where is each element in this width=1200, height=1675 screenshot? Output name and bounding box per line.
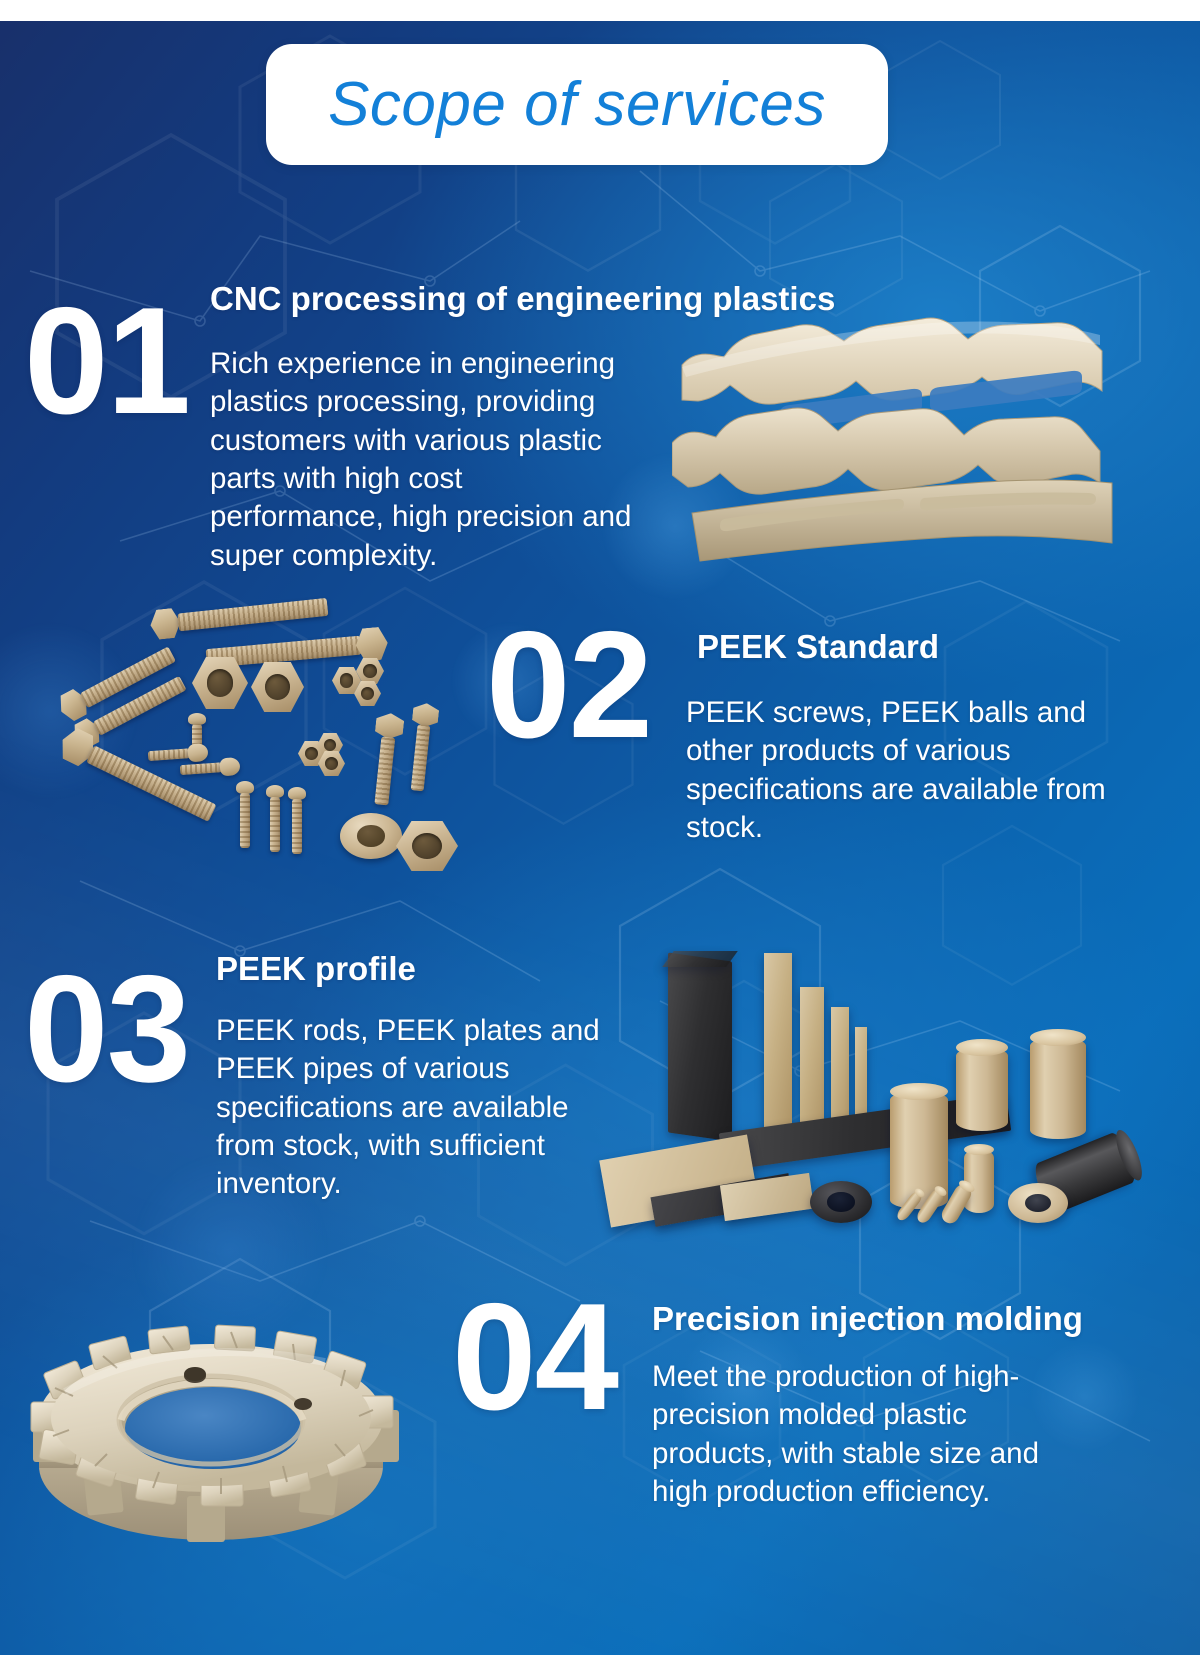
section-number: 02	[486, 616, 651, 756]
section-body: Rich experience in engineering plastics …	[210, 345, 640, 575]
section-body: PEEK rods, PEEK plates and PEEK pipes of…	[216, 1012, 616, 1204]
top-white-strip	[0, 0, 1200, 21]
section-number: 04	[452, 1288, 617, 1428]
section-heading: PEEK Standard	[697, 628, 939, 666]
page-title: Scope of services	[328, 74, 826, 136]
section-heading: CNC processing of engineering plastics	[210, 280, 835, 318]
section-number: 03	[24, 960, 189, 1100]
section-number: 01	[24, 292, 189, 432]
title-card: Scope of services	[266, 44, 888, 165]
section-body: PEEK screws, PEEK balls and other produc…	[686, 694, 1106, 847]
bokeh-circle	[0, 621, 140, 801]
section-body: Meet the production of high-precision mo…	[652, 1358, 1082, 1511]
bottom-white-strip	[0, 1655, 1200, 1675]
infographic-page: Scope of services 01 CNC processing of e…	[0, 0, 1200, 1675]
section-heading: Precision injection molding	[652, 1300, 1083, 1338]
section-heading: PEEK profile	[216, 950, 416, 988]
